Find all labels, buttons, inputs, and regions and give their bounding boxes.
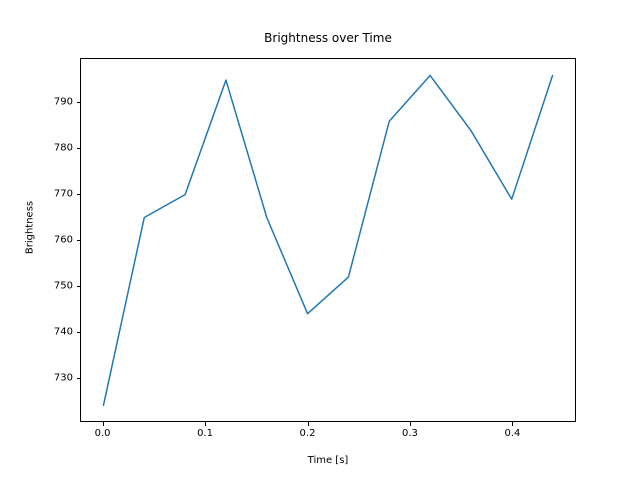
y-tick-mark bbox=[77, 332, 81, 333]
chart-title: Brightness over Time bbox=[80, 31, 576, 45]
y-tick-mark bbox=[77, 286, 81, 287]
plot-axes bbox=[80, 58, 576, 423]
y-tick-label: 780 bbox=[30, 142, 73, 153]
y-tick-mark bbox=[77, 102, 81, 103]
data-series-line bbox=[103, 75, 552, 405]
y-tick-label: 750 bbox=[30, 281, 73, 292]
x-tick-label: 0.3 bbox=[402, 428, 418, 439]
figure-canvas: Brightness over Time 0.00.10.20.30.4 730… bbox=[0, 0, 640, 480]
x-tick-label: 0.0 bbox=[95, 428, 111, 439]
line-plot-svg bbox=[81, 59, 575, 422]
y-tick-mark bbox=[77, 240, 81, 241]
x-tick-mark bbox=[410, 422, 411, 426]
x-tick-label: 0.1 bbox=[197, 428, 213, 439]
y-axis-label: Brightness bbox=[25, 138, 36, 318]
y-tick-mark bbox=[77, 194, 81, 195]
x-tick-mark bbox=[308, 422, 309, 426]
y-tick-mark bbox=[77, 148, 81, 149]
x-tick-mark bbox=[512, 422, 513, 426]
y-tick-label: 730 bbox=[30, 373, 73, 384]
x-tick-label: 0.4 bbox=[505, 428, 521, 439]
x-tick-mark bbox=[103, 422, 104, 426]
y-tick-label: 760 bbox=[30, 235, 73, 246]
x-axis-label: Time [s] bbox=[80, 455, 576, 466]
y-tick-label: 770 bbox=[30, 188, 73, 199]
y-tick-label: 740 bbox=[30, 327, 73, 338]
x-tick-mark bbox=[205, 422, 206, 426]
y-tick-mark bbox=[77, 378, 81, 379]
y-tick-label: 790 bbox=[30, 96, 73, 107]
x-tick-label: 0.2 bbox=[300, 428, 316, 439]
